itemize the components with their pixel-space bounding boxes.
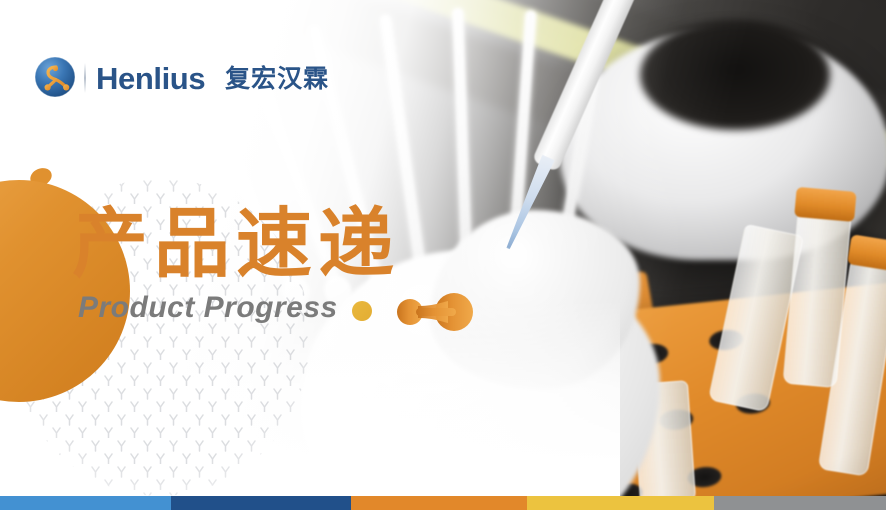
logo-chinese-name: 复宏汉霖: [225, 66, 329, 91]
segment-light-blue: [0, 496, 171, 510]
logo-english-name: Henlius: [96, 63, 205, 94]
bottom-color-bar: [0, 496, 886, 510]
segment-yellow: [527, 496, 714, 510]
headline-english: Product Progress: [78, 293, 338, 323]
headline-chinese: 产品速递: [72, 206, 400, 282]
segment-gray: [714, 496, 886, 510]
segment-orange: [351, 496, 527, 510]
henlius-logo[interactable]: Henlius 复宏汉霖: [34, 56, 329, 100]
decor-dot-yellow: [352, 301, 372, 321]
presentation-slide: Henlius 复宏汉霖 产品速递 Product Progress: [0, 0, 886, 510]
segment-dark-blue: [171, 496, 351, 510]
henlius-molecule-logo-icon: [34, 56, 78, 100]
logo-divider: [84, 63, 86, 93]
molecule-dumbbell-icon: [392, 288, 474, 336]
